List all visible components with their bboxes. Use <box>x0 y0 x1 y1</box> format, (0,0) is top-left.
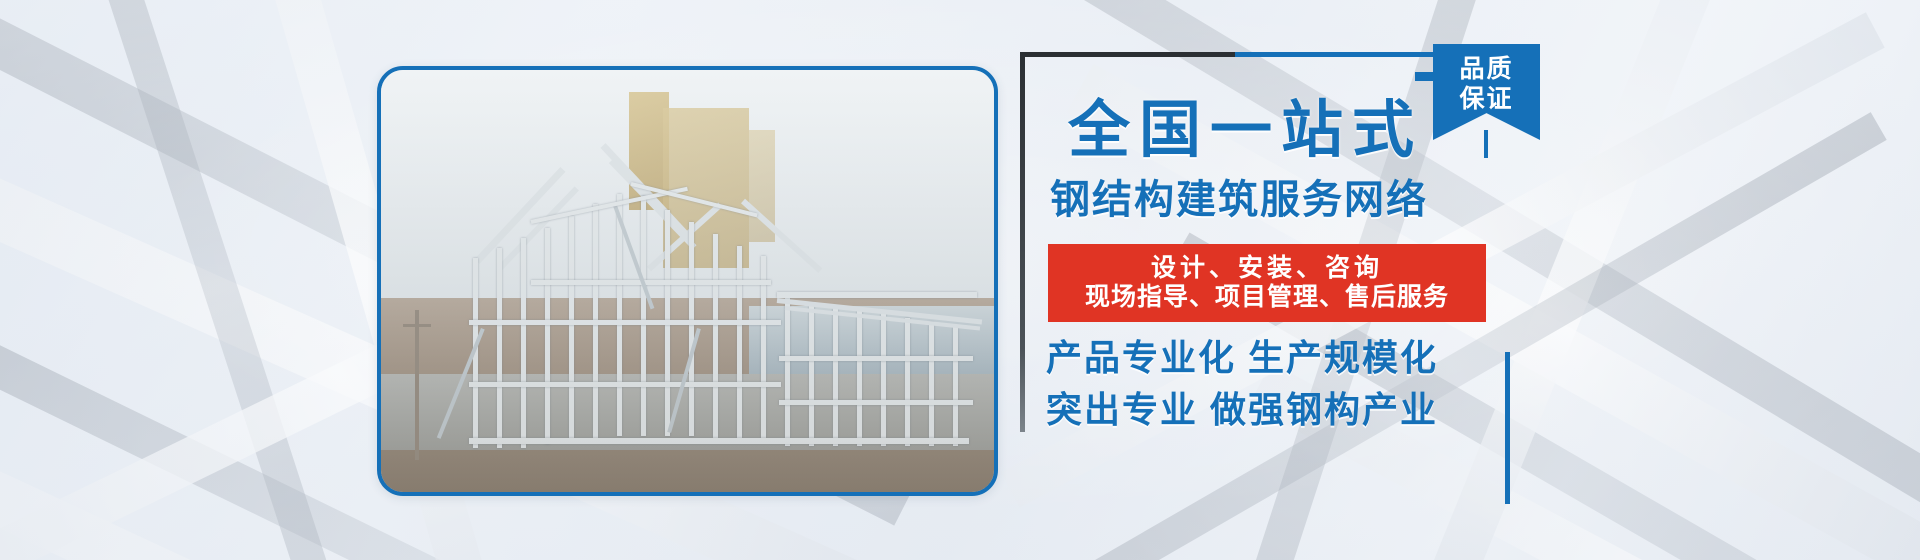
badge-line-2: 保证 <box>1433 85 1540 115</box>
frame-left-border <box>1020 52 1025 432</box>
badge-line-1: 品质 <box>1433 55 1540 85</box>
quality-guarantee-badge: 品质 保证 <box>1433 44 1540 140</box>
services-red-band: 设计、安装、咨询 现场指导、项目管理、售后服务 <box>1048 244 1486 322</box>
badge-tab <box>1415 72 1435 81</box>
headline-main: 全国一站式 <box>1068 100 1488 162</box>
promo-banner: 全国一站式 钢结构建筑服务网络 设计、安装、咨询 现场指导、项目管理、售后服务 … <box>0 0 1920 560</box>
headline-sub: 钢结构建筑服务网络 <box>1050 180 1500 220</box>
slogan-line-2: 突出专业 做强钢构产业 <box>1046 392 1506 428</box>
badge-text: 品质 保证 <box>1433 55 1540 114</box>
frame-top-dark-border <box>1020 52 1235 57</box>
services-line-2: 现场指导、项目管理、售后服务 <box>1085 283 1449 312</box>
services-line-1: 设计、安装、咨询 <box>1151 254 1383 283</box>
badge-tail <box>1484 130 1488 158</box>
slogan-line-1: 产品专业化 生产规模化 <box>1046 340 1506 376</box>
construction-photo <box>377 66 998 496</box>
